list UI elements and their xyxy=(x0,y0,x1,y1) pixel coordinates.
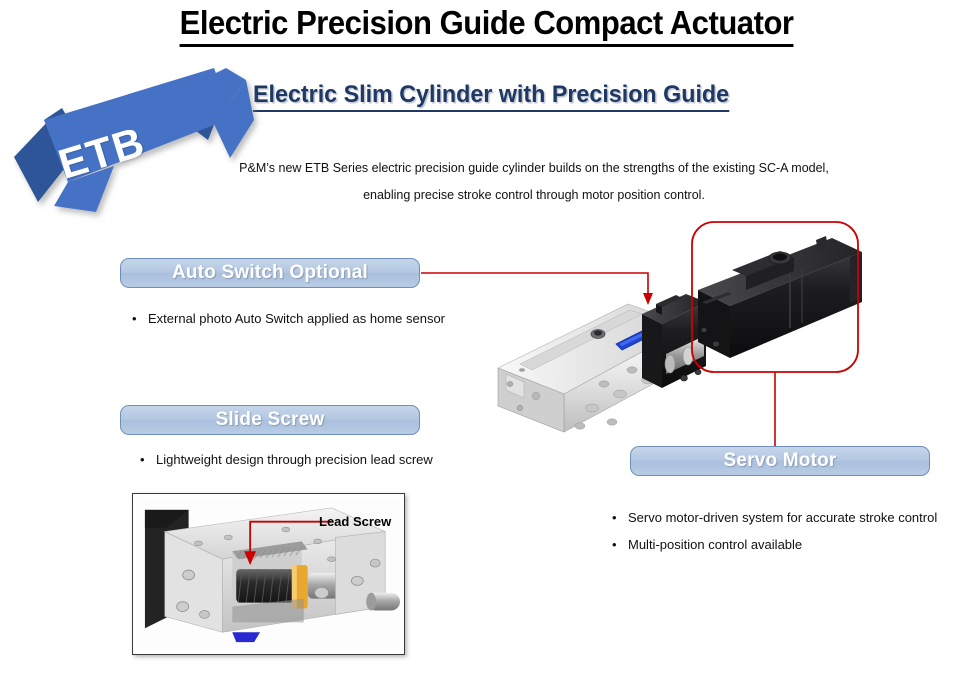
description-line-1: P&M’s new ETB Series electric precision … xyxy=(214,155,854,182)
inset-photo-lead-screw: Lead Screw xyxy=(132,493,405,655)
bullet-servo-motor-1: •Servo motor-driven system for accurate … xyxy=(612,510,937,525)
page-subtitle-text: Electric Slim Cylinder with Precision Gu… xyxy=(253,81,729,112)
bullet-text: External photo Auto Switch applied as ho… xyxy=(148,311,445,326)
label-slide-screw-text: Slide Screw xyxy=(216,409,325,431)
bullet-auto-switch-1: •External photo Auto Switch applied as h… xyxy=(132,311,445,326)
bullet-servo-motor-2: •Multi-position control available xyxy=(612,537,802,552)
label-servo-motor[interactable]: Servo Motor xyxy=(630,446,930,476)
label-auto-switch-optional[interactable]: Auto Switch Optional xyxy=(120,258,420,288)
product-image-actuator xyxy=(480,218,880,463)
bullet-marker: • xyxy=(612,537,628,552)
label-servo-motor-text: Servo Motor xyxy=(723,450,836,472)
actuator-illustration xyxy=(480,218,880,463)
bullet-text: Multi-position control available xyxy=(628,537,802,552)
bullet-text: Servo motor-driven system for accurate s… xyxy=(628,510,937,525)
bullet-marker: • xyxy=(612,510,628,525)
slide-canvas: Electric Precision Guide Compact Actuato… xyxy=(0,0,973,680)
bullet-marker: • xyxy=(140,452,156,467)
page-subtitle: Electric Slim Cylinder with Precision Gu… xyxy=(253,81,729,112)
bullet-slide-screw-1: •Lightweight design through precision le… xyxy=(140,452,433,467)
description-line-2: enabling precise stroke control through … xyxy=(214,182,854,209)
bullet-marker: • xyxy=(132,311,148,326)
page-title-text: Electric Precision Guide Compact Actuato… xyxy=(180,4,794,47)
bullet-text: Lightweight design through precision lea… xyxy=(156,452,433,467)
label-slide-screw[interactable]: Slide Screw xyxy=(120,405,420,435)
label-auto-switch-text: Auto Switch Optional xyxy=(172,262,368,284)
page-title: Electric Precision Guide Compact Actuato… xyxy=(0,4,973,47)
inset-caption-lead-screw: Lead Screw xyxy=(319,514,391,529)
intro-description: P&M’s new ETB Series electric precision … xyxy=(214,155,854,209)
inset-photo-canvas: Lead Screw xyxy=(137,498,400,650)
